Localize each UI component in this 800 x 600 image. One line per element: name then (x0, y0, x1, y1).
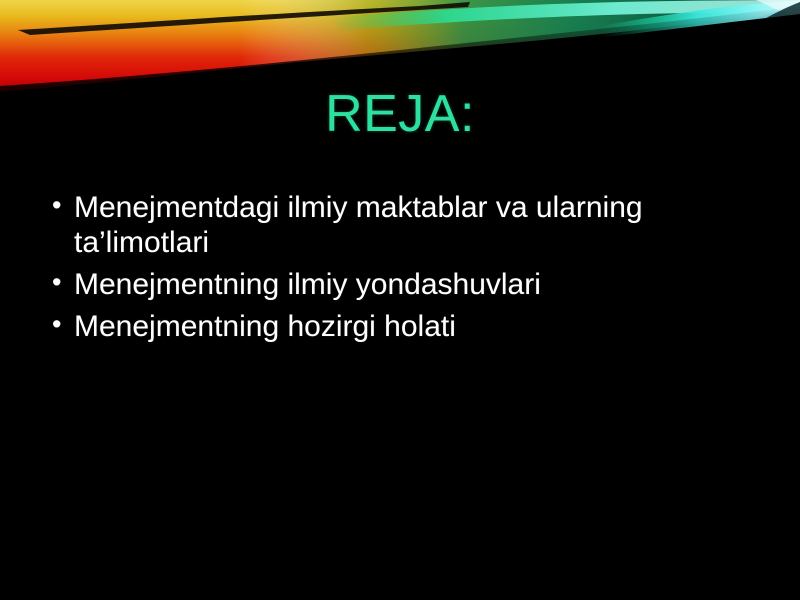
warm-gradient-band (0, 0, 800, 92)
list-item: • Menejmentdagi ilmiy maktablar va ularn… (52, 190, 752, 260)
page-title: REJA: (0, 86, 800, 142)
list-item-label: Menejmentning hozirgi holati (74, 309, 752, 344)
cyan-ribbon-primary (600, 0, 800, 50)
list-item: • Menejmentning ilmiy yondashuvlari (52, 267, 752, 302)
slide-canvas: REJA: • Menejmentdagi ilmiy maktablar va… (0, 0, 800, 600)
list-item-label: Menejmentdagi ilmiy maktablar va ularnin… (74, 190, 752, 260)
bullet-list: • Menejmentdagi ilmiy maktablar va ularn… (52, 190, 752, 351)
bullet-dot-icon: • (52, 190, 74, 222)
list-item: • Menejmentning hozirgi holati (52, 309, 752, 344)
cyan-ribbon-shadow (744, 2, 800, 42)
warm-to-green-blend (0, 0, 800, 92)
cyan-ribbon-secondary (700, 4, 800, 66)
green-edge-arc (330, 0, 800, 30)
bullet-dot-icon: • (52, 309, 74, 341)
cyan-highlight (756, 0, 800, 22)
bullet-dot-icon: • (52, 267, 74, 299)
list-item-label: Menejmentning ilmiy yondashuvlari (74, 267, 752, 302)
dark-streak (18, 2, 470, 35)
